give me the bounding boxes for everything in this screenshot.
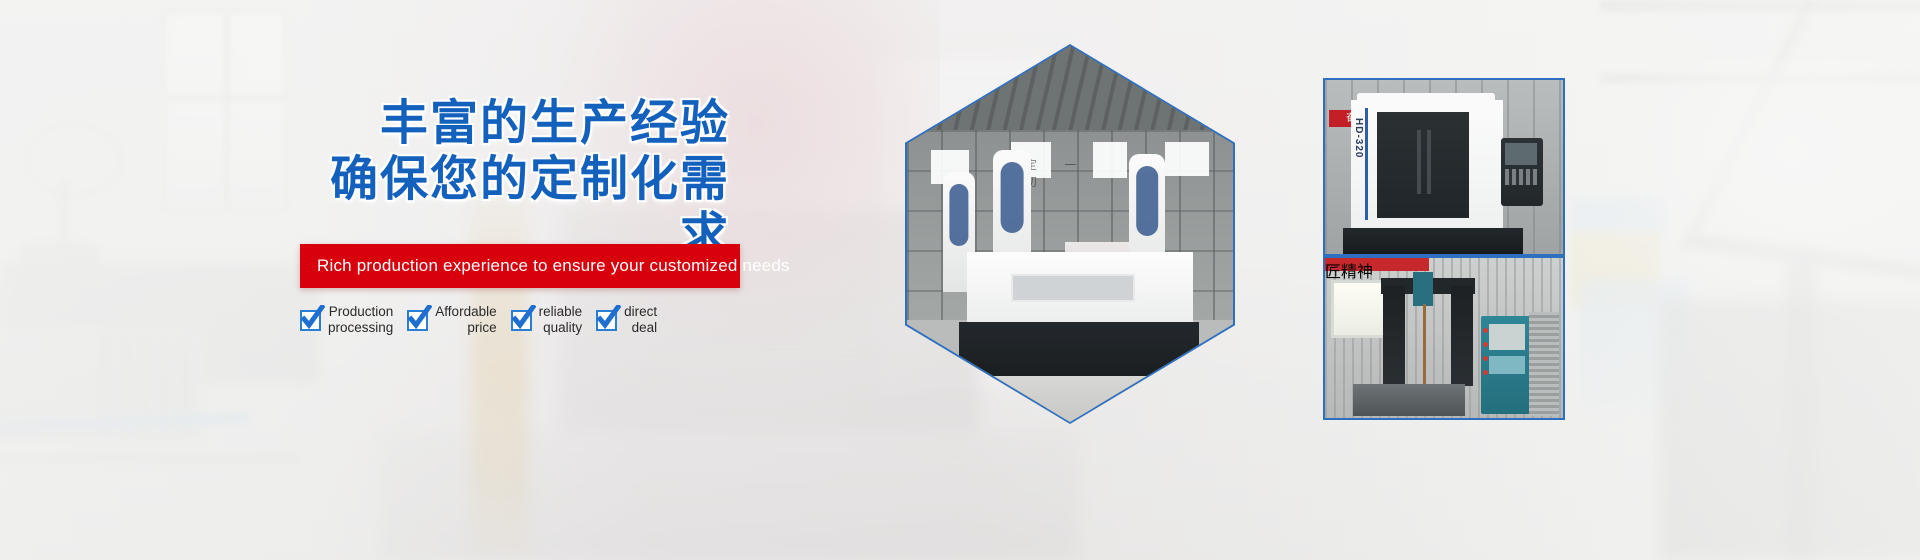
thumb-control-panel [1501, 138, 1543, 206]
checkbox-icon [407, 310, 428, 331]
thumb-console-screen [1489, 324, 1525, 350]
checkbox-icon [511, 310, 532, 331]
thumb-work-tank [1353, 384, 1465, 416]
thumb-electrical-cabinet [1529, 312, 1559, 416]
feature-label-line-1: Production [328, 304, 393, 320]
feature-label: reliable quality [539, 304, 583, 336]
checkbox-icon [596, 310, 617, 331]
thumb-console-button [1483, 328, 1488, 333]
feature-item[interactable]: reliable quality [511, 304, 583, 336]
thumb-panel-screen [1505, 143, 1537, 165]
photo-wall-sign: 定 一 初 [1025, 156, 1113, 174]
feature-item[interactable]: direct deal [596, 304, 657, 336]
headline: 丰富的生产经验 确保您的定制化需求 [300, 96, 730, 264]
headline-line-1: 丰富的生产经验 [380, 97, 730, 150]
feature-label-line-2: processing [328, 320, 393, 336]
thumbnail-gantry-edm[interactable]: 匠精神 [1323, 256, 1565, 420]
thumb-machine-label: HD-320 [1353, 118, 1364, 158]
feature-label: Production processing [328, 304, 393, 336]
tagline-text: Rich production experience to ensure you… [300, 256, 790, 276]
feature-list: Production processing Affordable price [300, 304, 750, 336]
photo-floor [907, 376, 1233, 422]
thumb-drill-head [1413, 272, 1433, 306]
thumb-control-console [1481, 316, 1531, 414]
thumbnail-machining-center[interactable]: 奋力 HD-320 [1323, 78, 1565, 256]
hexagon-border: 定 一 初 [905, 44, 1235, 424]
thumb-panel-keys [1505, 169, 1537, 185]
thumb-banner-text: 匠精神 [1325, 258, 1429, 271]
feature-label-line-2: price [435, 320, 496, 336]
feature-label-line-1: Affordable [435, 304, 496, 320]
thumb-gantry-column [1451, 286, 1473, 386]
thumb-console-button [1483, 356, 1488, 361]
hero-image-hexagon: 定 一 初 [905, 44, 1235, 424]
thumb-console-button [1483, 342, 1488, 347]
feature-label: direct deal [624, 304, 657, 336]
feature-label-line-1: direct [624, 304, 657, 320]
feature-item[interactable]: Affordable price [407, 304, 496, 336]
feature-label: Affordable price [435, 304, 496, 336]
tagline-ribbon: Rich production experience to ensure you… [300, 244, 740, 288]
promo-banner: 丰富的生产经验 确保您的定制化需求 Rich production experi… [0, 0, 1920, 560]
feature-label-line-1: reliable [539, 304, 583, 320]
thumb-machine-stripe [1365, 108, 1368, 220]
thumb-gantry-column [1383, 286, 1405, 386]
photo-window [1165, 142, 1209, 176]
hexagon-photo: 定 一 初 [907, 46, 1233, 422]
thumb-console-keypad [1489, 356, 1525, 374]
thumb-machine-hood [1357, 93, 1495, 109]
thumb-console-button [1483, 370, 1488, 375]
copy-block: 丰富的生产经验 确保您的定制化需求 Rich production experi… [300, 96, 960, 264]
thumb-machine-door [1377, 112, 1469, 218]
thumb-machine-plinth [1343, 228, 1523, 254]
feature-label-line-2: deal [624, 320, 657, 336]
photo-machine-deck [967, 252, 1193, 329]
feature-item[interactable]: Production processing [300, 304, 393, 336]
feature-label-line-2: quality [539, 320, 583, 336]
checkbox-icon [300, 310, 321, 331]
